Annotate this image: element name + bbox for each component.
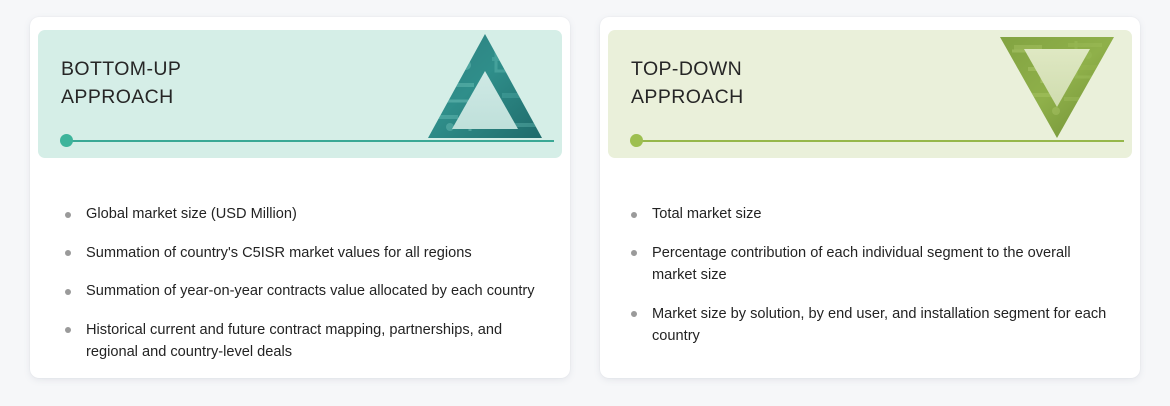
bullet-dot-icon bbox=[631, 311, 637, 317]
bullet-list-bottom-up: Global market size (USD Million) Summati… bbox=[30, 203, 570, 364]
panel-header-bottom-up: BOTTOM-UP APPROACH bbox=[38, 30, 562, 158]
list-item: Global market size (USD Million) bbox=[56, 203, 544, 226]
list-item-text: Total market size bbox=[652, 206, 762, 222]
triangle-up-icon bbox=[426, 31, 544, 141]
panel-bottom-up: BOTTOM-UP APPROACH bbox=[30, 17, 570, 378]
bullet-dot-icon bbox=[65, 250, 71, 256]
list-item: Total market size bbox=[622, 203, 1114, 226]
list-item-text: Historical current and future contract m… bbox=[86, 322, 502, 361]
bullet-dot-icon bbox=[65, 327, 71, 333]
list-item: Summation of country's C5ISR market valu… bbox=[56, 242, 544, 265]
panel-title-bottom-up: BOTTOM-UP APPROACH bbox=[61, 55, 181, 111]
list-item-text: Percentage contribution of each individu… bbox=[652, 245, 1071, 284]
list-item: Historical current and future contract m… bbox=[56, 319, 544, 364]
panel-top-down: TOP-DOWN APPROACH bbox=[600, 17, 1140, 378]
list-item: Market size by solution, by end user, an… bbox=[622, 303, 1114, 348]
bullet-dot-icon bbox=[65, 289, 71, 295]
list-item: Percentage contribution of each individu… bbox=[622, 242, 1114, 287]
list-item-text: Global market size (USD Million) bbox=[86, 206, 297, 222]
bullet-list-top-down: Total market size Percentage contributio… bbox=[600, 203, 1140, 348]
list-item-text: Summation of year-on-year contracts valu… bbox=[86, 283, 535, 299]
bullet-dot-icon bbox=[65, 212, 71, 218]
baseline-dot-right bbox=[630, 134, 643, 147]
baseline-dot-left bbox=[60, 134, 73, 147]
bullet-dot-icon bbox=[631, 212, 637, 218]
bullet-dot-icon bbox=[631, 250, 637, 256]
list-item-text: Summation of country's C5ISR market valu… bbox=[86, 245, 472, 261]
list-item: Summation of year-on-year contracts valu… bbox=[56, 280, 544, 303]
panel-header-top-down: TOP-DOWN APPROACH bbox=[608, 30, 1132, 158]
list-item-text: Market size by solution, by end user, an… bbox=[652, 306, 1106, 345]
approach-comparison-board: BOTTOM-UP APPROACH bbox=[0, 0, 1170, 406]
triangle-down-icon bbox=[998, 31, 1116, 141]
panel-title-top-down: TOP-DOWN APPROACH bbox=[631, 55, 744, 111]
